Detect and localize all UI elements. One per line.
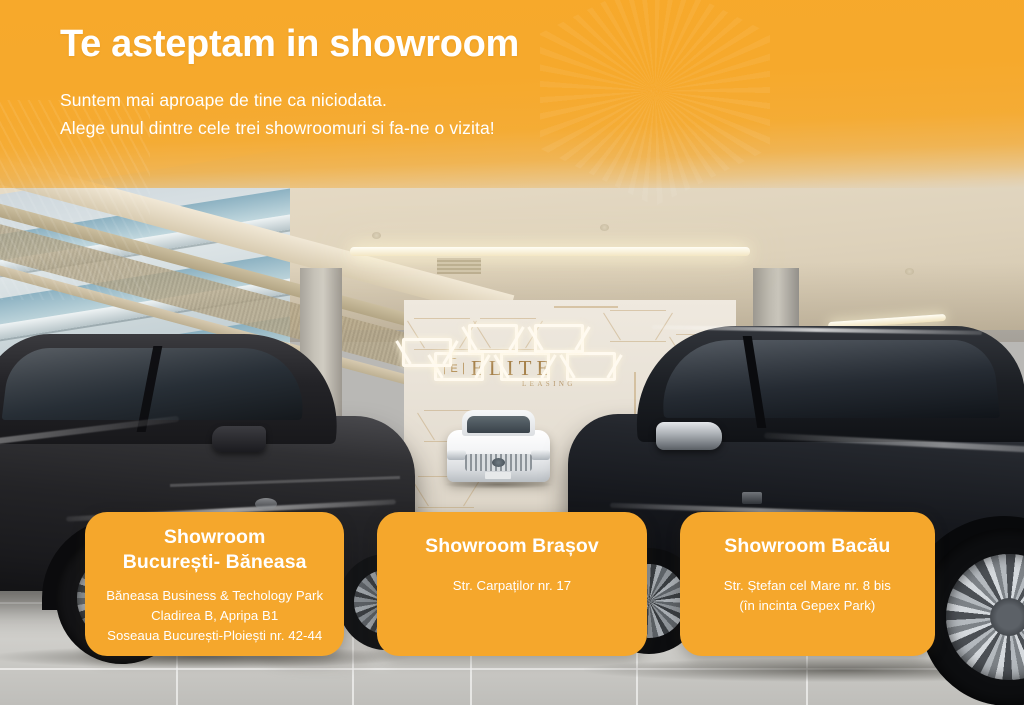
showroom-card-bucuresti-baneasa[interactable]: Showroom București- Băneasa Băneasa Busi…	[85, 512, 344, 656]
showroom-card-brasov[interactable]: Showroom Brașov Str. Carpaților nr. 17	[377, 512, 646, 656]
address-line: Soseaua București-Ploiești nr. 42-44	[106, 626, 323, 646]
page-title: Te asteptam in showroom	[60, 22, 519, 68]
address-line: Cladirea B, Apripa B1	[106, 606, 323, 626]
subtitle-line-1: Suntem mai aproape de tine ca niciodata.	[60, 86, 495, 114]
ceiling-sprinkler	[372, 232, 381, 239]
showroom-card-address: Băneasa Business & Techology Park Cladir…	[106, 586, 323, 646]
ceiling-sprinkler	[600, 224, 609, 231]
address-line: Str. Carpaților nr. 17	[453, 576, 571, 596]
address-line: Str. Ștefan cel Mare nr. 8 bis	[724, 576, 891, 596]
card-title-line-1: Showroom Brașov	[425, 534, 599, 559]
showroom-card-bacau[interactable]: Showroom Bacău Str. Ștefan cel Mare nr. …	[680, 512, 935, 656]
address-line: (în incinta Gepex Park)	[724, 596, 891, 616]
page-subtitle: Suntem mai aproape de tine ca niciodata.…	[60, 86, 495, 143]
hex-watermark-icon	[540, 0, 770, 206]
showroom-card-list: Showroom București- Băneasa Băneasa Busi…	[85, 512, 935, 656]
showroom-card-address: Str. Carpaților nr. 17	[453, 576, 571, 596]
linear-ceiling-light	[350, 247, 750, 256]
ceiling-sprinkler	[905, 268, 914, 275]
card-title-line-2: București- Băneasa	[123, 550, 307, 575]
showroom-card-title: Showroom București- Băneasa	[123, 525, 307, 575]
subtitle-line-2: Alege unul dintre cele trei showroomuri …	[60, 114, 495, 142]
showroom-promo-banner: E ELITE LEASING E	[0, 0, 1024, 705]
showroom-card-address: Str. Ștefan cel Mare nr. 8 bis (în incin…	[724, 576, 891, 616]
white-suv	[441, 408, 556, 486]
card-title-line-1: Showroom	[123, 525, 307, 550]
card-title-line-1: Showroom Bacău	[724, 534, 890, 559]
showroom-card-title: Showroom Bacău	[724, 534, 890, 559]
ceiling-vent	[437, 258, 481, 274]
showroom-card-title: Showroom Brașov	[425, 534, 599, 559]
address-line: Băneasa Business & Techology Park	[106, 586, 323, 606]
